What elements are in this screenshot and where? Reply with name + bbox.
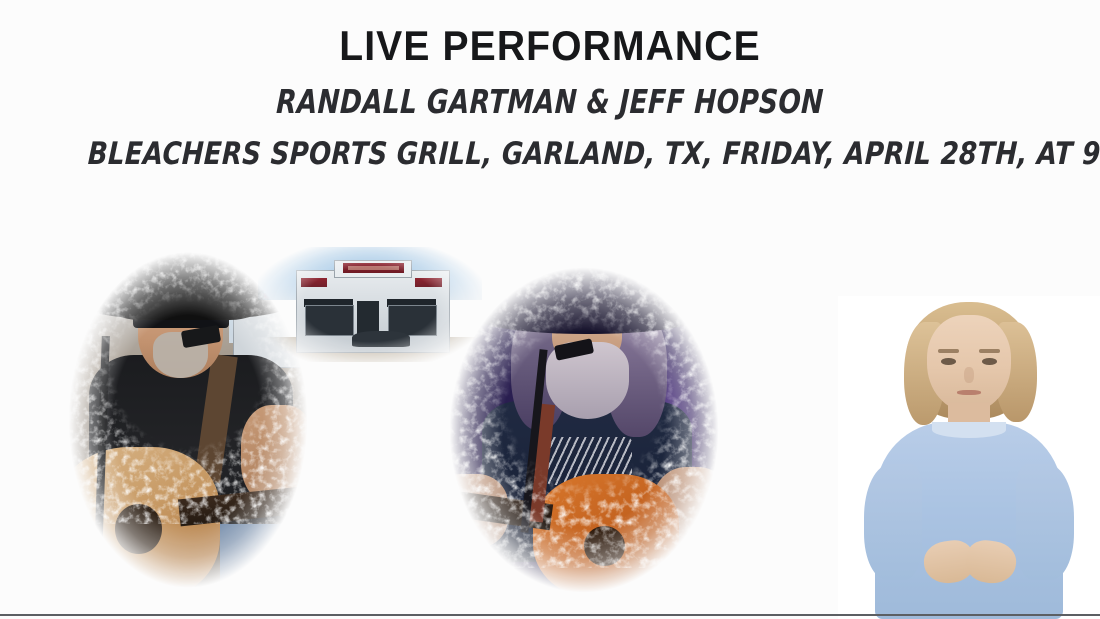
interpreter-mouth (957, 390, 981, 395)
interpreter-eyebrow-left (938, 349, 959, 353)
performer-left-photo (42, 228, 334, 612)
sign-language-interpreter (838, 296, 1100, 619)
left-performer-jeans (220, 524, 319, 608)
right-performer-hat-brim (473, 298, 702, 335)
performers-line: RANDALL GARTMAN & JEFF HOPSON (109, 82, 991, 121)
interpreter-eye-left (941, 358, 955, 365)
page-title: LIVE PERFORMANCE (39, 22, 1062, 70)
poster-canvas: LIVE PERFORMANCE RANDALL GARTMAN & JEFF … (0, 0, 1100, 619)
bottom-divider (0, 614, 1100, 616)
event-details-line: BLEACHERS SPORTS GRILL, GARLAND, TX, FRI… (87, 136, 1013, 172)
left-performer-hat-brim (83, 293, 287, 320)
left-guitar-soundhole (115, 504, 162, 554)
interpreter-face (927, 315, 1011, 412)
interpreter-eye-right (982, 358, 996, 365)
interpreter-eyebrow-right (979, 349, 1000, 353)
interpreter-arm-left (864, 464, 922, 580)
interpreter-nose (964, 367, 974, 383)
venue-sign (343, 263, 403, 273)
performer-right-photo (425, 246, 743, 614)
right-photo-building-sign (431, 268, 466, 283)
venue-parked-car (352, 331, 410, 347)
interpreter-arm-right (1016, 464, 1074, 580)
interpreter-collar (932, 422, 1005, 438)
